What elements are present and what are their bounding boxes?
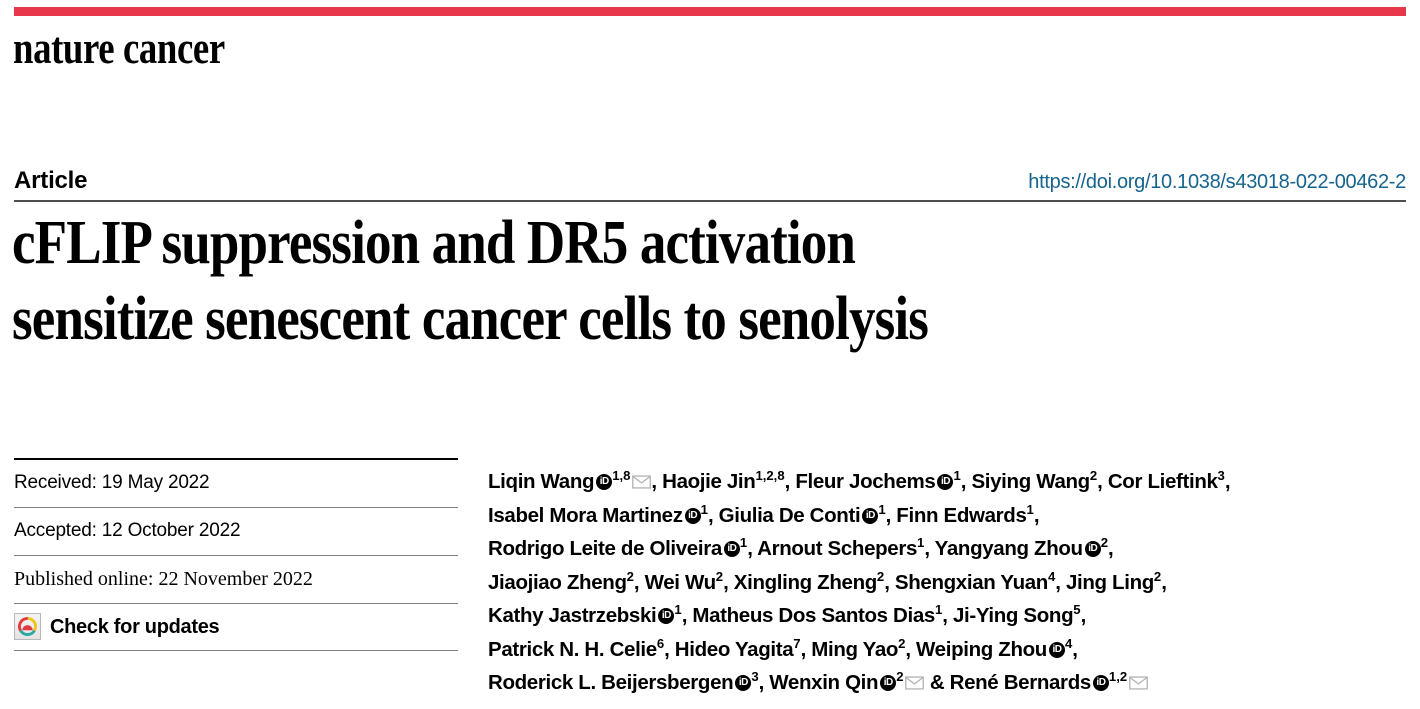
affiliation-marker: 5 xyxy=(1073,602,1080,617)
author-separator: , xyxy=(1108,537,1113,560)
orcid-icon[interactable] xyxy=(1085,541,1101,557)
author-name: , Weiping Zhou xyxy=(905,638,1047,661)
author-name: , Giulia De Conti xyxy=(708,504,860,527)
author-name: , Arnout Schepers xyxy=(747,537,917,560)
envelope-icon[interactable] xyxy=(1129,667,1148,681)
publication-dates-panel: Received: 19 May 2022 Accepted: 12 Octob… xyxy=(14,460,458,651)
affiliation-marker: 1 xyxy=(953,468,960,483)
affiliation-marker: 1 xyxy=(701,502,708,517)
orcid-icon[interactable] xyxy=(685,508,701,524)
author-name: , Cor Lieftink xyxy=(1097,470,1217,493)
journal-masthead: nature cancer xyxy=(13,22,225,74)
author-name: Isabel Mora Martinez xyxy=(488,504,683,527)
affiliation-marker: 2 xyxy=(1101,535,1108,550)
orcid-icon[interactable] xyxy=(724,541,740,557)
orcid-icon[interactable] xyxy=(880,675,896,691)
article-header-row: Article https://doi.org/10.1038/s43018-0… xyxy=(14,166,1406,196)
orcid-icon[interactable] xyxy=(937,474,953,490)
author-name: , Xingling Zheng xyxy=(723,571,877,594)
page-title: cFLIP suppression and DR5 activation sen… xyxy=(12,205,1412,357)
affiliation-marker: 1 xyxy=(674,602,681,617)
affiliation-marker: 1,2,8 xyxy=(755,468,784,483)
author-line-3: Rodrigo Leite de Oliveira1, Arnout Schep… xyxy=(488,532,1413,566)
author-separator: , xyxy=(1161,571,1166,594)
affiliation-marker: 2 xyxy=(896,669,903,684)
author-name: , Fleur Jochems xyxy=(785,470,936,493)
affiliation-marker: 1 xyxy=(1027,502,1034,517)
author-list: Liqin Wang1,8, Haojie Jin1,2,8, Fleur Jo… xyxy=(488,465,1413,700)
orcid-icon[interactable] xyxy=(862,508,878,524)
author-name: , Hideo Yagita xyxy=(664,638,793,661)
envelope-icon[interactable] xyxy=(632,466,651,480)
article-type-label: Article xyxy=(14,166,87,196)
author-name: , Shengxian Yuan xyxy=(884,571,1048,594)
envelope-icon[interactable] xyxy=(905,667,924,681)
affiliation-marker: 1,8 xyxy=(612,468,630,483)
author-line-5: Kathy Jastrzebski1, Matheus Dos Santos D… xyxy=(488,599,1413,633)
orcid-icon[interactable] xyxy=(596,474,612,490)
check-for-updates-label: Check for updates xyxy=(50,614,219,640)
affiliation-marker: 3 xyxy=(751,669,758,684)
orcid-icon[interactable] xyxy=(735,675,751,691)
author-name: , Haojie Jin xyxy=(651,470,755,493)
check-for-updates-button[interactable]: Check for updates xyxy=(14,604,458,651)
title-line-1: cFLIP suppression and DR5 activation xyxy=(12,205,1209,281)
author-name: Rodrigo Leite de Oliveira xyxy=(488,537,722,560)
author-name: , Wei Wu xyxy=(634,571,716,594)
author-name: , Ming Yao xyxy=(801,638,899,661)
affiliation-marker: 6 xyxy=(657,636,664,651)
author-line-4: Jiaojiao Zheng2, Wei Wu2, Xingling Zheng… xyxy=(488,566,1413,600)
affiliation-marker: 1,2 xyxy=(1109,669,1127,684)
affiliation-marker: 1 xyxy=(878,502,885,517)
author-separator: , xyxy=(1034,504,1039,527)
affiliation-marker: 7 xyxy=(793,636,800,651)
author-separator: , xyxy=(1072,638,1077,661)
orcid-icon[interactable] xyxy=(1093,675,1109,691)
author-name: , Matheus Dos Santos Dias xyxy=(682,604,935,627)
author-name: Jiaojiao Zheng xyxy=(488,571,627,594)
author-name: , Finn Edwards xyxy=(886,504,1027,527)
published-online-date: Published online: 22 November 2022 xyxy=(14,556,458,604)
received-date: Received: 19 May 2022 xyxy=(14,460,458,508)
author-name: & René Bernards xyxy=(924,671,1090,694)
affiliation-marker: 2 xyxy=(716,569,723,584)
accepted-date: Accepted: 12 October 2022 xyxy=(14,508,458,556)
title-line-2: sensitize senescent cancer cells to seno… xyxy=(12,281,1209,357)
orcid-icon[interactable] xyxy=(658,608,674,624)
author-line-7: Roderick L. Beijersbergen3, Wenxin Qin2 … xyxy=(488,666,1413,700)
author-line-2: Isabel Mora Martinez1, Giulia De Conti1,… xyxy=(488,499,1413,533)
author-name: Kathy Jastrzebski xyxy=(488,604,656,627)
brand-accent-bar xyxy=(14,7,1406,16)
header-divider xyxy=(14,200,1406,202)
author-name: , Siying Wang xyxy=(961,470,1090,493)
author-name: Liqin Wang xyxy=(488,470,594,493)
orcid-icon[interactable] xyxy=(1049,642,1065,658)
author-name: , Jing Ling xyxy=(1055,571,1154,594)
crossmark-icon xyxy=(14,613,41,640)
author-line-1: Liqin Wang1,8, Haojie Jin1,2,8, Fleur Jo… xyxy=(488,465,1413,499)
author-name: Patrick N. H. Celie xyxy=(488,638,657,661)
author-name: , Ji-Ying Song xyxy=(942,604,1073,627)
author-separator: , xyxy=(1081,604,1086,627)
author-name: , Yangyang Zhou xyxy=(924,537,1082,560)
affiliation-marker: 3 xyxy=(1218,468,1225,483)
author-separator: , xyxy=(1225,470,1230,493)
author-name: , Wenxin Qin xyxy=(759,671,879,694)
doi-link[interactable]: https://doi.org/10.1038/s43018-022-00462… xyxy=(1028,168,1406,196)
author-line-6: Patrick N. H. Celie6, Hideo Yagita7, Min… xyxy=(488,633,1413,667)
affiliation-marker: 2 xyxy=(627,569,634,584)
author-name: Roderick L. Beijersbergen xyxy=(488,671,733,694)
